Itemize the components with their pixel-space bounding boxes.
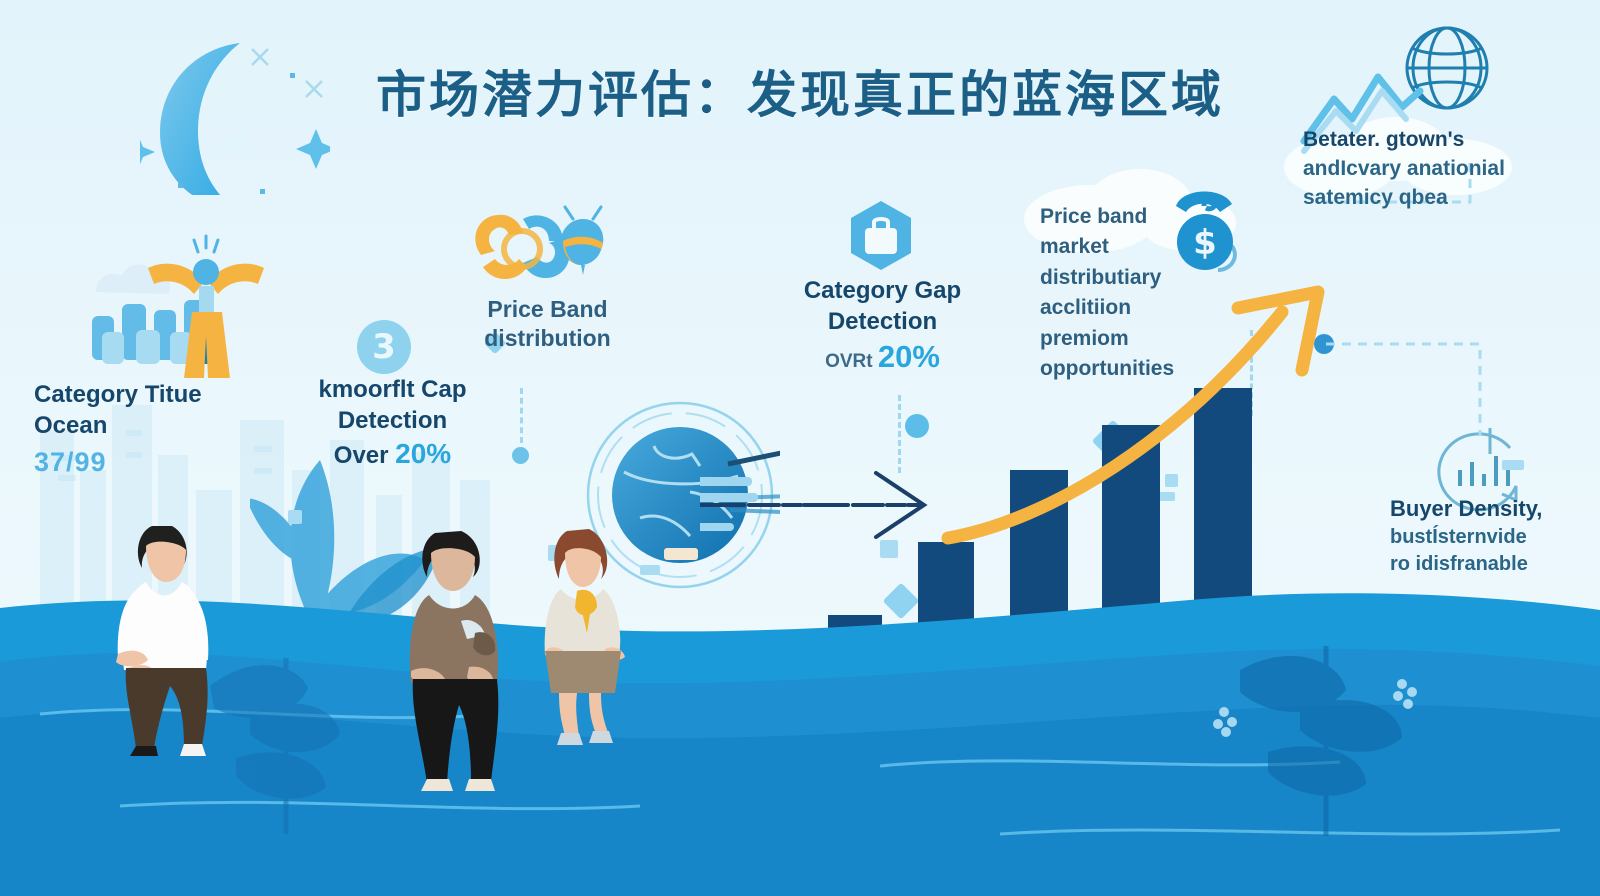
label-category-title-line2: Ocean	[34, 411, 274, 442]
label-better-growth-line3: satemicy qbea	[1303, 184, 1568, 213]
ocean-background	[0, 566, 1600, 896]
recycle-loop-icon	[465, 205, 610, 295]
label-category-title-garbled: 37/99	[34, 445, 274, 480]
person-walking-skirt	[535, 525, 635, 745]
label-pbm-line2: market	[1040, 232, 1255, 262]
label-pbm-line3: distributiary	[1040, 263, 1255, 293]
label-buyer-density: Buyer Density, bustÍsternvide ro idisfra…	[1390, 494, 1600, 578]
label-market-cap-over: Over	[334, 442, 395, 469]
label-pbm-line4: acclitiion	[1040, 293, 1255, 323]
connector-dot-1	[512, 447, 529, 464]
label-category-gap-line2: Detection	[775, 307, 990, 338]
label-market-cap: kmoorflt Cap Detection Over 20%	[285, 375, 500, 472]
label-better-growth: Betater. gtown's andIcvary anationial sa…	[1303, 126, 1568, 213]
label-category-gap-line1: Category Gap	[775, 276, 990, 307]
label-price-band-market: Price band market distributiary acclitii…	[1040, 202, 1255, 385]
label-category-gap-percent: 20%	[878, 339, 940, 374]
connector-line-1	[520, 388, 523, 443]
label-buyer-density-line1: Buyer Density,	[1390, 494, 1600, 524]
label-category-gap: Category Gap Detection OVRt 20%	[775, 276, 990, 377]
label-buyer-density-line3: ro idisfranable	[1390, 551, 1600, 578]
label-category-gap-line3: OVRt 20%	[775, 337, 990, 377]
label-market-cap-percent: 20%	[395, 438, 451, 469]
label-market-cap-line2: Detection	[285, 406, 500, 437]
floating-square-e	[1502, 460, 1524, 470]
crowd-celebration-icon	[88, 232, 273, 382]
page-title: 市场潜力评估：发现真正的蓝海区域	[0, 55, 1600, 127]
step-badge-3: 3	[357, 320, 411, 374]
infographic-canvas: $	[0, 0, 1600, 896]
label-pbm-line6: opportunities	[1040, 354, 1255, 384]
label-market-cap-line3: Over 20%	[285, 436, 500, 472]
hexagon-briefcase-icon	[848, 200, 914, 272]
person-standing-white-shirt	[110, 520, 240, 760]
label-pbm-line5: premiom	[1040, 324, 1255, 354]
label-buyer-density-line2: bustÍsternvide	[1390, 524, 1600, 551]
label-category-title-line1: Category Titue	[34, 380, 274, 411]
label-better-growth-line1: Betater. gtown's	[1303, 126, 1568, 155]
label-pbm-line1: Price band	[1040, 202, 1255, 232]
label-price-band-line2: distribution	[440, 324, 655, 353]
label-price-band-line1: Price Band	[440, 295, 655, 324]
label-better-growth-line2: andIcvary anationial	[1303, 155, 1568, 184]
label-category-gap-ovr: OVRt	[825, 351, 878, 372]
label-price-band: Price Band distribution	[440, 295, 655, 354]
floating-square-h	[288, 510, 302, 524]
label-category-title: Category Titue Ocean 37/99	[34, 380, 274, 480]
label-market-cap-line1: kmoorflt Cap	[285, 375, 500, 406]
person-standing-brown-sweater	[405, 525, 525, 800]
